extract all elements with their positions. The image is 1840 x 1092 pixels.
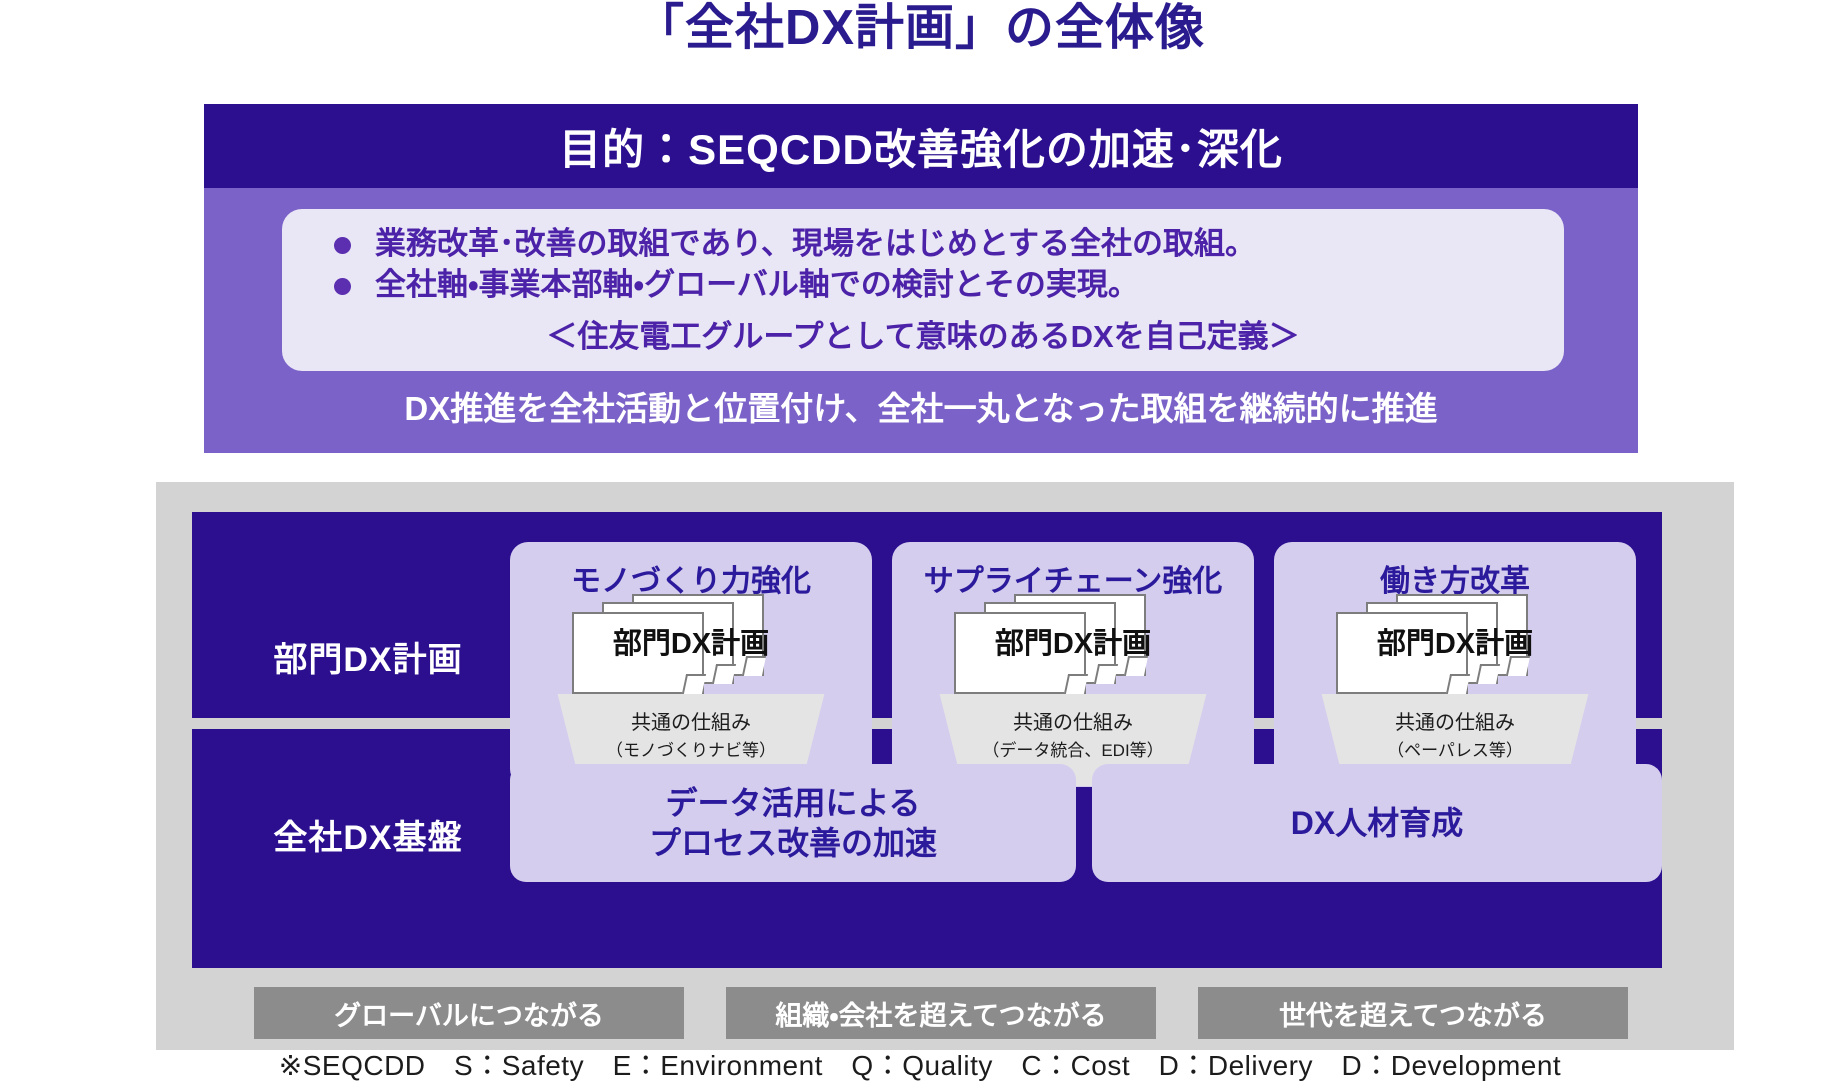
row-label-department: 部門DX計画 xyxy=(240,632,496,681)
document-label: 部門DX計画 xyxy=(1274,620,1636,662)
common-mechanism-title: 共通の仕組み xyxy=(546,708,836,738)
department-card[interactable]: モノづくり力強化 部門DX計画 共通の仕組み （モノづくりナビ等） xyxy=(510,542,872,787)
common-mechanism-text: 共通の仕組み （ペーパレス等） xyxy=(1310,708,1600,764)
department-card[interactable]: 働き方改革 部門DX計画 共通の仕組み （ペーパレス等） xyxy=(1274,542,1636,787)
bullet-text: 全社軸・事業本部軸・グローバル軸での検討とその実現。 xyxy=(375,264,1139,305)
common-mechanism-text: 共通の仕組み （データ統合、EDI等） xyxy=(928,708,1218,764)
common-mechanism-detail: （データ統合、EDI等） xyxy=(928,738,1218,764)
common-mechanism-detail: （モノづくりナビ等） xyxy=(546,738,836,764)
purpose-bullet-box: 業務改革･改善の取組であり、現場をはじめとする全社の取組。 全社軸・事業本部軸・… xyxy=(282,209,1564,371)
document-label: 部門DX計画 xyxy=(892,620,1254,662)
common-mechanism-title: 共通の仕組み xyxy=(928,708,1218,738)
department-card[interactable]: サプライチェーン強化 部門DX計画 共通の仕組み （データ統合、EDI等） xyxy=(892,542,1254,787)
bullet-text: 業務改革･改善の取組であり、現場をはじめとする全社の取組。 xyxy=(375,223,1256,264)
bullet-dot-icon xyxy=(334,278,351,295)
structure-body: 部門DX計画 全社DX基盤 モノづくり力強化 部門DX計画 共通の仕組み （モノ… xyxy=(192,512,1662,968)
bullet-dot-icon xyxy=(334,237,351,254)
platform-label-line2: プロセス改善の加速 xyxy=(649,823,937,863)
purpose-header: 目的：SEQCDD改善強化の加速･深化 xyxy=(204,104,1638,188)
bullet-item: 業務改革･改善の取組であり、現場をはじめとする全社の取組。 xyxy=(334,223,1546,264)
platform-label: DX人材育成 xyxy=(1291,803,1463,843)
platform-card[interactable]: データ活用による プロセス改善の加速 xyxy=(510,764,1076,882)
slide-canvas: 「全社DX計画」の全体像 目的：SEQCDD改善強化の加速･深化 業務改革･改善… xyxy=(0,0,1840,1092)
platform-label-line1: データ活用による xyxy=(649,783,937,823)
common-mechanism-title: 共通の仕組み xyxy=(1310,708,1600,738)
document-stack-icon: 部門DX計画 xyxy=(510,594,872,688)
common-mechanism-detail: （ペーパレス等） xyxy=(1310,738,1600,764)
self-definition-text: ＜住友電工グループとして意味のあるDXを自己定義＞ xyxy=(300,311,1546,356)
row-label-platform: 全社DX基盤 xyxy=(240,810,496,859)
page-title: 「全社DX計画」の全体像 xyxy=(0,2,1840,56)
purpose-panel: 目的：SEQCDD改善強化の加速･深化 業務改革･改善の取組であり、現場をはじめ… xyxy=(204,104,1638,453)
structure-frame: 部門DX計画 全社DX基盤 モノづくり力強化 部門DX計画 共通の仕組み （モノ… xyxy=(156,482,1734,1050)
platform-label: データ活用による プロセス改善の加速 xyxy=(649,783,937,863)
common-mechanism-text: 共通の仕組み （モノづくりナビ等） xyxy=(546,708,836,764)
footnote: ※SEQCDD S：Safety E：Environment Q：Quality… xyxy=(0,1044,1840,1084)
document-label: 部門DX計画 xyxy=(510,620,872,662)
platform-card[interactable]: DX人材育成 xyxy=(1092,764,1662,882)
document-stack-icon: 部門DX計画 xyxy=(1274,594,1636,688)
platform-label-line1: DX人材育成 xyxy=(1291,803,1463,843)
connector-tag[interactable]: グローバルにつながる xyxy=(254,987,684,1039)
connector-tag[interactable]: 世代を超えてつながる xyxy=(1198,987,1628,1039)
bullet-item: 全社軸・事業本部軸・グローバル軸での検討とその実現。 xyxy=(334,264,1546,305)
connector-tag[interactable]: 組織・会社を超えてつながる xyxy=(726,987,1156,1039)
purpose-footer: DX推進を全社活動と位置付け、全社一丸となった取組を継続的に推進 xyxy=(204,382,1638,430)
document-stack-icon: 部門DX計画 xyxy=(892,594,1254,688)
